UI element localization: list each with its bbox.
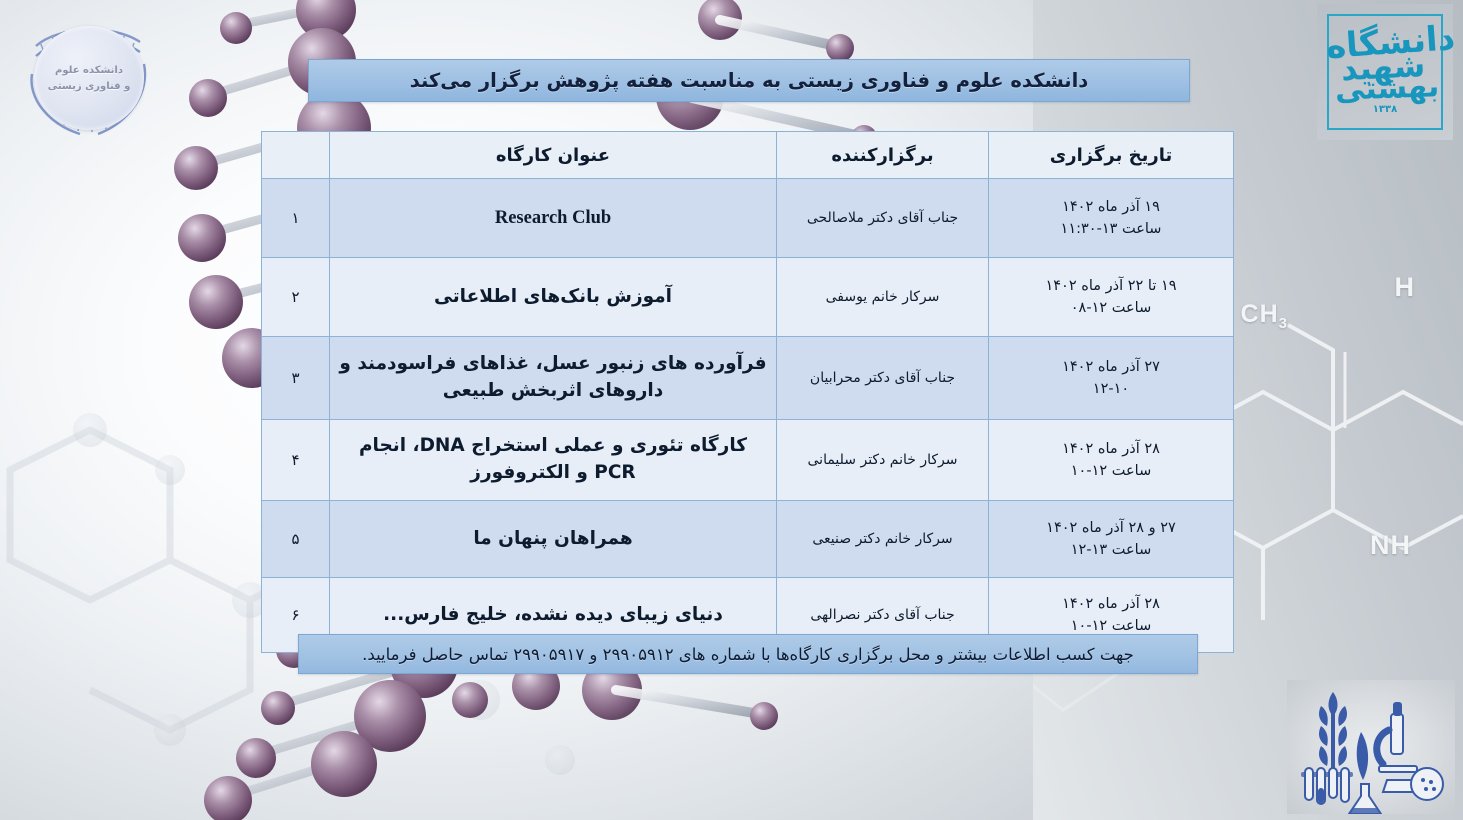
cell-date: ۲۷ آذر ماه ۱۴۰۲ ۱۲-۱۰ (989, 337, 1234, 420)
cell-title: کارگاه تئوری و عملی استخراج DNA، انجام P… (330, 420, 777, 501)
date-line-1: ۱۹ تا ۲۲ آذر ماه ۱۴۰۲ (995, 275, 1227, 297)
microscope-icon (1377, 702, 1443, 800)
science-emblem (1287, 680, 1455, 814)
chem-label-nh: NH (1370, 530, 1411, 561)
header-date: تاریخ برگزاری (989, 132, 1234, 179)
date-line-1: ۱۹ آذر ماه ۱۴۰۲ (995, 196, 1227, 218)
date-line-1: ۲۷ آذر ماه ۱۴۰۲ (995, 356, 1227, 378)
cell-organizer: جناب آقای دکتر ملاصالحی (777, 179, 989, 258)
date-line-2: ۱۲-۱۰ (995, 378, 1227, 400)
headline-banner: دانشکده علوم و فناوری زیستی به مناسبت هف… (308, 59, 1190, 102)
table-row: ۲۷ آذر ماه ۱۴۰۲ ۱۲-۱۰ جناب آقای دکتر محر… (262, 337, 1234, 420)
cell-number: ۲ (262, 258, 330, 337)
table-row: ۲۸ آذر ماه ۱۴۰۲ ساعت ۱۲-۱۰ سرکار خانم دک… (262, 420, 1234, 501)
cell-title: آموزش بانک‌های اطلاعاتی (330, 258, 777, 337)
cell-title: Research Club (330, 179, 777, 258)
cell-organizer: سرکار خانم دکتر سلیمانی (777, 420, 989, 501)
cell-title: فرآورده های زنبور عسل، غذاهای فراسودمند … (330, 337, 777, 420)
lab-equipment-icon (1287, 680, 1455, 814)
table-row: ۱۹ تا ۲۲ آذر ماه ۱۴۰۲ ساعت ۱۲-۰۸ سرکار خ… (262, 258, 1234, 337)
workshop-schedule-table: تاریخ برگزاری برگزارکننده عنوان کارگاه ۱… (262, 131, 1234, 653)
seal-line-1: دانشکده علوم (55, 65, 123, 76)
table-row: ۲۷ و ۲۸ آذر ماه ۱۴۰۲ ساعت ۱۳-۱۲ سرکار خا… (262, 501, 1234, 578)
header-title: عنوان کارگاه (330, 132, 777, 179)
cell-organizer: جناب آقای دکتر محرابیان (777, 337, 989, 420)
table-body: ۱۹ آذر ماه ۱۴۰۲ ساعت ۱۳-۱۱:۳۰ جناب آقای … (262, 179, 1234, 653)
cell-organizer: سرکار خانم یوسفی (777, 258, 989, 337)
headline-text: دانشکده علوم و فناوری زیستی به مناسبت هف… (410, 69, 1089, 92)
cell-number: ۴ (262, 420, 330, 501)
cell-number: ۳ (262, 337, 330, 420)
logo-calligraphy: دانشگاه شهید بهشتی ۱۳۳۸ (1317, 4, 1453, 140)
university-logo: دانشگاه شهید بهشتی ۱۳۳۸ (1317, 4, 1453, 140)
table-header-row: تاریخ برگزاری برگزارکننده عنوان کارگاه (262, 132, 1234, 179)
cell-date: ۲۷ و ۲۸ آذر ماه ۱۴۰۲ ساعت ۱۳-۱۲ (989, 501, 1234, 578)
chem-label-h: H (1395, 272, 1416, 303)
faculty-seal: دانشکده علوم و فناوری زیستی (18, 12, 160, 144)
flask-icon (1349, 784, 1381, 814)
test-tubes-icon (1301, 768, 1353, 804)
cell-date: ۲۸ آذر ماه ۱۴۰۲ ساعت ۱۲-۱۰ (989, 420, 1234, 501)
date-line-2: ساعت ۱۳-۱۱:۳۰ (995, 218, 1227, 240)
date-line-2: ساعت ۱۲-۱۰ (995, 460, 1227, 482)
date-line-1: ۲۷ و ۲۸ آذر ماه ۱۴۰۲ (995, 517, 1227, 539)
cell-number: ۵ (262, 501, 330, 578)
cell-title: همراهان پنهان ما (330, 501, 777, 578)
header-organizer: برگزارکننده (777, 132, 989, 179)
cell-date: ۱۹ تا ۲۲ آذر ماه ۱۴۰۲ ساعت ۱۲-۰۸ (989, 258, 1234, 337)
chem-label-ch3: CH3 (1241, 300, 1288, 332)
contact-info-banner: جهت کسب اطلاعات بیشتر و محل برگزاری کارگ… (298, 634, 1198, 674)
poster-canvas: CH3 H NH (0, 0, 1463, 820)
date-line-2: ساعت ۱۳-۱۲ (995, 539, 1227, 561)
seal-line-2: و فناوری زیستی (48, 81, 131, 92)
date-line-1: ۲۸ آذر ماه ۱۴۰۲ (995, 438, 1227, 460)
seal-inner-disc: دانشکده علوم و فناوری زیستی (34, 26, 144, 130)
date-line-1: ۲۸ آذر ماه ۱۴۰۲ (995, 593, 1227, 615)
table-row: ۱۹ آذر ماه ۱۴۰۲ ساعت ۱۳-۱۱:۳۰ جناب آقای … (262, 179, 1234, 258)
date-line-2: ساعت ۱۲-۰۸ (995, 297, 1227, 319)
logo-founding-year: ۱۳۳۸ (1373, 106, 1397, 114)
header-number (262, 132, 330, 179)
cell-number: ۱ (262, 179, 330, 258)
cell-date: ۱۹ آذر ماه ۱۴۰۲ ساعت ۱۳-۱۱:۳۰ (989, 179, 1234, 258)
contact-info-text: جهت کسب اطلاعات بیشتر و محل برگزاری کارگ… (362, 645, 1134, 664)
cell-organizer: سرکار خانم دکتر صنیعی (777, 501, 989, 578)
logo-line-3: بهشتی (1335, 75, 1440, 103)
